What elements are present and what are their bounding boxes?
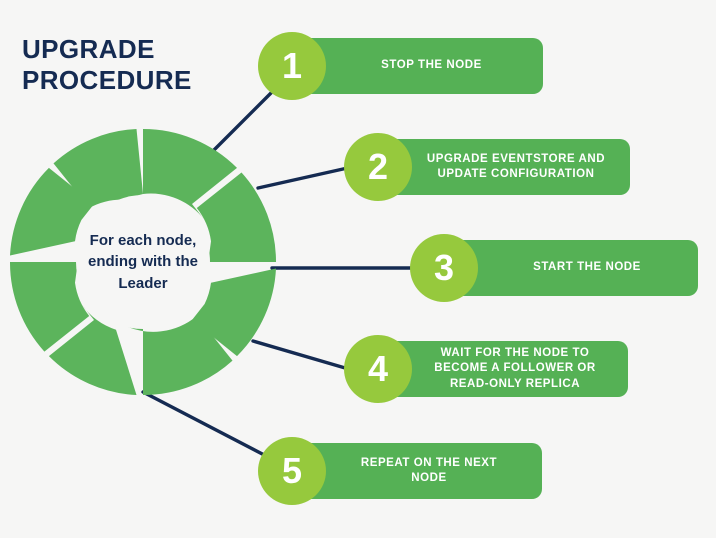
- step-bar-1[interactable]: STOP THE NODE: [300, 38, 543, 94]
- page-title: UPGRADE PROCEDURE: [22, 34, 252, 95]
- step-bar-5[interactable]: REPEAT ON THE NEXT NODE: [300, 443, 542, 499]
- step-number-5: 5: [282, 453, 302, 489]
- step-number-circle-4[interactable]: 4: [344, 335, 412, 403]
- step-number-circle-2[interactable]: 2: [344, 133, 412, 201]
- step-label-3: START THE NODE: [499, 260, 651, 275]
- step-label-4: WAIT FOR THE NODE TO BECOME A FOLLOWER O…: [408, 346, 606, 392]
- step-bar-2[interactable]: UPGRADE EVENTSTORE AND UPDATE CONFIGURAT…: [386, 139, 630, 195]
- step-number-circle-1[interactable]: 1: [258, 32, 326, 100]
- infographic-canvas: UPGRADE PROCEDURE For each node, en: [0, 0, 716, 538]
- step-label-1: STOP THE NODE: [351, 58, 492, 73]
- step-number-3: 3: [434, 250, 454, 286]
- step-number-circle-3[interactable]: 3: [410, 234, 478, 302]
- cycle-diagram: [10, 129, 276, 395]
- cycle-segments: [10, 129, 276, 395]
- connector-line-5: [143, 392, 270, 458]
- step-number-4: 4: [368, 351, 388, 387]
- step-label-5: REPEAT ON THE NEXT NODE: [335, 456, 507, 486]
- step-label-2: UPGRADE EVENTSTORE AND UPDATE CONFIGURAT…: [401, 152, 615, 182]
- step-bar-3[interactable]: START THE NODE: [452, 240, 698, 296]
- step-bar-4[interactable]: WAIT FOR THE NODE TO BECOME A FOLLOWER O…: [386, 341, 628, 397]
- step-number-1: 1: [282, 48, 302, 84]
- step-number-circle-5[interactable]: 5: [258, 437, 326, 505]
- step-number-2: 2: [368, 149, 388, 185]
- cycle-center-disc: [76, 195, 210, 329]
